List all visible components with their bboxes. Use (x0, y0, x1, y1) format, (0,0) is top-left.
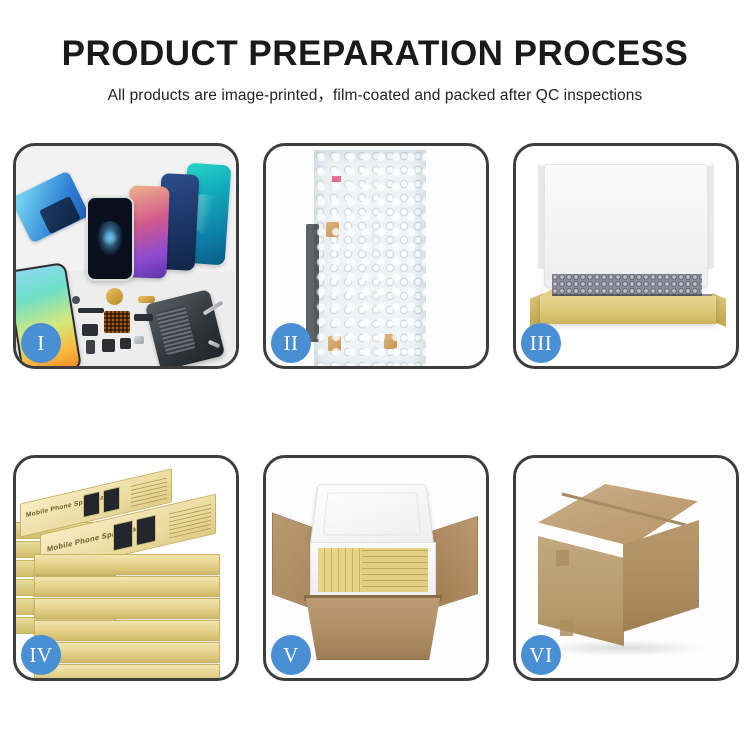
part-bracket (134, 336, 144, 344)
process-step-card-1: I (13, 143, 239, 369)
part-ic-grid (104, 311, 130, 333)
product-preparation-infographic: PRODUCT PREPARATION PROCESS All products… (0, 0, 750, 750)
carton-left-face (538, 536, 624, 646)
part-button-block (82, 324, 98, 336)
part-speaker (86, 340, 95, 354)
step-badge-4: IV (21, 635, 61, 675)
carton-hand-hole-top (556, 550, 569, 566)
packed-yellow-boxes-right (362, 548, 428, 592)
pink-qc-sticker (332, 176, 341, 182)
front-box-1 (34, 554, 220, 575)
step-badge-1: I (21, 323, 61, 363)
process-step-card-3: III (513, 143, 739, 369)
part-camera (102, 339, 115, 352)
lcd-connector-bottom-left (328, 336, 341, 351)
front-box-3 (34, 598, 220, 619)
header: PRODUCT PREPARATION PROCESS All products… (0, 0, 750, 105)
part-connector (134, 314, 153, 321)
process-step-grid: I II (13, 143, 739, 681)
page-title: PRODUCT PREPARATION PROCESS (0, 34, 750, 74)
process-step-card-6: VI (513, 455, 739, 681)
carton-front-wall (306, 598, 440, 660)
box-spec-text-front (169, 504, 211, 539)
front-box-4 (34, 620, 220, 641)
lcd-connector-bottom-right (384, 334, 397, 349)
box-screen-art-3 (113, 520, 133, 552)
white-framed-phone (86, 196, 134, 281)
page-subtitle: All products are image-printed，film-coat… (0, 83, 750, 105)
process-step-card-5: V (263, 455, 489, 681)
kraft-box-base (540, 296, 716, 324)
part-strip (78, 308, 104, 313)
box-screen-art-1 (83, 491, 100, 518)
screen-graphic (95, 221, 125, 259)
front-box-2 (34, 576, 220, 597)
box-screen-art-2 (103, 486, 120, 513)
step-badge-6: VI (521, 635, 561, 675)
box-label-back: Mobile Phone Spare Parts (26, 492, 113, 519)
box-screen-art-4 (136, 515, 156, 547)
process-step-card-4: Mobile Phone Spare Parts Mobile Phone Sp… (13, 455, 239, 681)
front-box-6 (34, 664, 220, 678)
step-badge-5: V (271, 635, 311, 675)
styrofoam-lid (310, 484, 435, 545)
process-step-card-2: II (263, 143, 489, 369)
lcd-flex-cable (306, 224, 319, 342)
box-spec-text-back (131, 478, 167, 507)
part-gold-coil (106, 288, 123, 305)
step-badge-2: II (271, 323, 311, 363)
lcd-panel (328, 168, 402, 360)
lcd-connector-top (326, 222, 339, 237)
part-screw (72, 296, 80, 304)
step-badge-3: III (521, 323, 561, 363)
part-gold-flex (138, 296, 155, 303)
carton-hand-hole-bottom (560, 620, 573, 636)
front-box-5 (34, 642, 220, 663)
white-foam-lid (544, 164, 708, 288)
part-vibrator (120, 338, 131, 349)
